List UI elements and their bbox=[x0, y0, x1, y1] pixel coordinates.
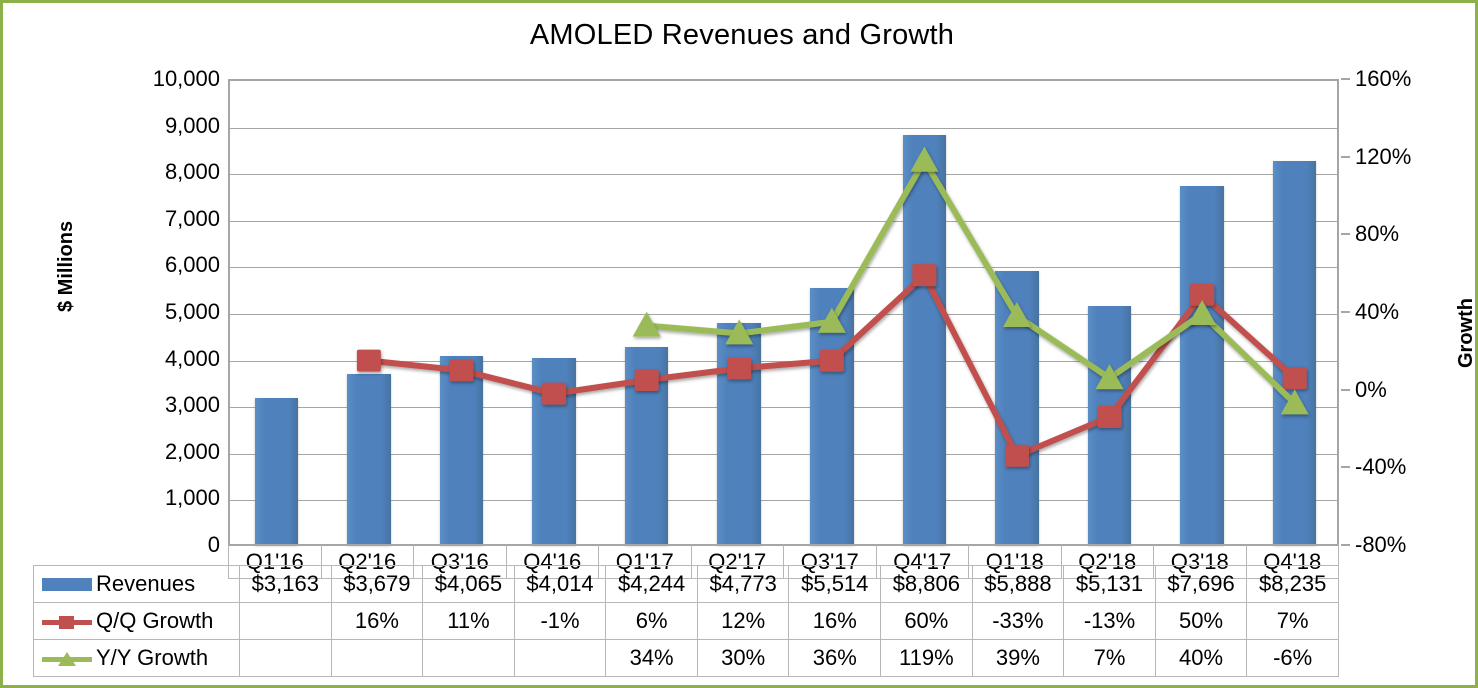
table-cell: $5,888 bbox=[972, 566, 1064, 603]
gridline bbox=[230, 407, 1337, 408]
table-cell bbox=[423, 640, 515, 677]
gridline bbox=[230, 454, 1337, 455]
right-axis-tick-label: 0% bbox=[1355, 377, 1387, 403]
gridline bbox=[230, 128, 1337, 129]
table-row: Q/Q Growth16%11%-1%6%12%16%60%-33%-13%50… bbox=[34, 603, 1339, 640]
left-axis-tick-label: 0 bbox=[208, 532, 220, 558]
left-axis-tick-label: 6,000 bbox=[165, 252, 220, 278]
bar bbox=[1273, 161, 1317, 545]
table-cell: -33% bbox=[972, 603, 1064, 640]
table-cell: -6% bbox=[1247, 640, 1339, 677]
bar bbox=[347, 374, 391, 545]
square-marker-icon bbox=[59, 616, 74, 629]
table-cell: $4,014 bbox=[514, 566, 606, 603]
bar bbox=[440, 356, 484, 545]
table-cell: 7% bbox=[1064, 640, 1156, 677]
bar bbox=[717, 323, 761, 545]
left-axis-tick-label: 4,000 bbox=[165, 346, 220, 372]
right-axis-tick-labels: 160%120%80%40%0%-40%-80% bbox=[1355, 79, 1465, 545]
right-axis-tick-label: 80% bbox=[1355, 221, 1399, 247]
table-cell: 34% bbox=[606, 640, 698, 677]
table-cell: 40% bbox=[1155, 640, 1247, 677]
table-cell: $3,679 bbox=[331, 566, 423, 603]
legend-line-swatch-icon bbox=[42, 649, 92, 669]
table-cell: -13% bbox=[1064, 603, 1156, 640]
table-cell: $8,806 bbox=[881, 566, 973, 603]
chart-title: AMOLED Revenues and Growth bbox=[3, 19, 1478, 52]
table-cell: 50% bbox=[1155, 603, 1247, 640]
left-axis-tick-label: 2,000 bbox=[165, 439, 220, 465]
table-cell: -1% bbox=[514, 603, 606, 640]
left-axis-tick-label: 7,000 bbox=[165, 206, 220, 232]
triangle-marker-icon bbox=[58, 652, 76, 666]
right-axis-tick-mark bbox=[1341, 544, 1350, 546]
legend-label: Y/Y Growth bbox=[96, 646, 208, 671]
left-axis-title: $ Millions bbox=[55, 221, 78, 312]
data-table: Revenues$3,163$3,679$4,065$4,014$4,244$4… bbox=[33, 565, 1339, 677]
legend-label: Revenues bbox=[96, 572, 195, 597]
legend-entry: Revenues bbox=[34, 566, 240, 603]
table-cell: 39% bbox=[972, 640, 1064, 677]
right-axis-tick-mark bbox=[1341, 311, 1350, 313]
table-cell: 11% bbox=[423, 603, 515, 640]
gridlines bbox=[230, 81, 1337, 545]
table-cell: $4,065 bbox=[423, 566, 515, 603]
right-axis-tick-mark bbox=[1341, 233, 1350, 235]
right-axis-tick-label: 40% bbox=[1355, 299, 1399, 325]
right-axis-tick-mark bbox=[1341, 156, 1350, 158]
table-cell bbox=[240, 603, 332, 640]
chart-page: AMOLED Revenues and Growth $ Millions 10… bbox=[0, 0, 1478, 688]
gridline bbox=[230, 314, 1337, 315]
right-axis-tick-label: -80% bbox=[1355, 532, 1406, 558]
right-axis-tick-label: -40% bbox=[1355, 454, 1406, 480]
left-axis-tick-labels: 10,0009,0008,0007,0006,0005,0004,0003,00… bbox=[98, 79, 220, 545]
table-row: Revenues$3,163$3,679$4,065$4,014$4,244$4… bbox=[34, 566, 1339, 603]
legend-label: Q/Q Growth bbox=[96, 609, 213, 634]
bar bbox=[1180, 186, 1224, 545]
right-axis-tick-mark bbox=[1341, 78, 1350, 80]
table-cell: 12% bbox=[697, 603, 789, 640]
gridline bbox=[230, 221, 1337, 222]
bar bbox=[810, 288, 854, 545]
left-axis-tick-label: 1,000 bbox=[165, 485, 220, 511]
legend-bar-swatch-icon bbox=[42, 578, 92, 591]
table-cell: $4,244 bbox=[606, 566, 698, 603]
plot-area bbox=[228, 79, 1339, 545]
table-cell: 36% bbox=[789, 640, 881, 677]
gridline bbox=[230, 361, 1337, 362]
table-cell: $4,773 bbox=[697, 566, 789, 603]
right-axis-tick-mark bbox=[1341, 389, 1350, 391]
table-cell: $7,696 bbox=[1155, 566, 1247, 603]
left-axis-tick-label: 3,000 bbox=[165, 392, 220, 418]
table-cell: 119% bbox=[881, 640, 973, 677]
left-axis-tick-label: 8,000 bbox=[165, 159, 220, 185]
table-cell: $8,235 bbox=[1247, 566, 1339, 603]
bar bbox=[903, 135, 947, 545]
bar bbox=[625, 347, 669, 545]
table-cell: $5,514 bbox=[789, 566, 881, 603]
right-axis-tick-label: 120% bbox=[1355, 144, 1411, 170]
bar bbox=[995, 271, 1039, 545]
table-cell: 30% bbox=[697, 640, 789, 677]
gridline bbox=[230, 267, 1337, 268]
bar bbox=[255, 398, 299, 545]
table-cell: $5,131 bbox=[1064, 566, 1156, 603]
table-cell bbox=[331, 640, 423, 677]
table-cell: 7% bbox=[1247, 603, 1339, 640]
gridline bbox=[230, 500, 1337, 501]
table-cell: 16% bbox=[331, 603, 423, 640]
left-axis-tick-label: 5,000 bbox=[165, 299, 220, 325]
right-axis-tick-mark bbox=[1341, 466, 1350, 468]
legend-line-swatch-icon bbox=[42, 612, 92, 632]
table-cell bbox=[514, 640, 606, 677]
bar bbox=[1088, 306, 1132, 545]
table-cell bbox=[240, 640, 332, 677]
table-cell: 60% bbox=[881, 603, 973, 640]
left-axis-tick-label: 9,000 bbox=[165, 113, 220, 139]
legend-entry: Q/Q Growth bbox=[34, 603, 240, 640]
table-cell: $3,163 bbox=[240, 566, 332, 603]
bar bbox=[532, 358, 576, 545]
left-axis-tick-label: 10,000 bbox=[153, 66, 220, 92]
right-axis-tick-label: 160% bbox=[1355, 66, 1411, 92]
table-cell: 16% bbox=[789, 603, 881, 640]
table-row: Y/Y Growth34%30%36%119%39%7%40%-6% bbox=[34, 640, 1339, 677]
gridline bbox=[230, 174, 1337, 175]
legend-entry: Y/Y Growth bbox=[34, 640, 240, 677]
table-cell: 6% bbox=[606, 603, 698, 640]
